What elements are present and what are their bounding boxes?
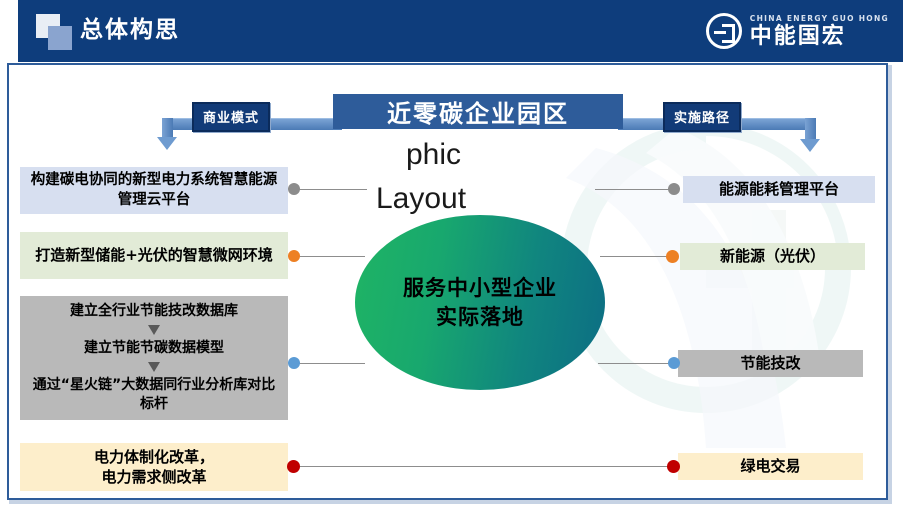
circle-g-logo-icon — [706, 13, 742, 49]
connector-line-2-right — [600, 256, 673, 257]
banner-title-text: 近零碳企业园区 — [387, 94, 569, 129]
gray-connector-dot-right[interactable] — [668, 183, 680, 195]
left-box-3-line-1: 建立全行业节能技改数据库 — [70, 302, 238, 321]
logo-text-block: CHINA ENERGY GUO HONG 中能国宏 — [750, 14, 889, 49]
right-box-2[interactable]: 新能源（光伏） — [680, 243, 865, 270]
right-box-1[interactable]: 能源能耗管理平台 — [683, 176, 875, 203]
page-title: 总体构思 — [80, 14, 180, 46]
right-box-3[interactable]: 节能技改 — [678, 350, 863, 377]
right-box-3-label: 节能技改 — [740, 353, 800, 373]
slide-header-bar: 总体构思 CHINA ENERGY GUO HONG 中能国宏 — [0, 0, 903, 62]
left-box-3-line-2: 建立节能节碳数据模型 — [84, 339, 224, 358]
placeholder-artifact-text: phic Layout — [406, 133, 466, 221]
right-box-4[interactable]: 绿电交易 — [678, 453, 863, 480]
left-box-1-label: 构建碳电协同的新型电力系统智慧能源管理云平台 — [28, 171, 280, 210]
connector-line-3-left — [295, 363, 365, 364]
left-box-4-line-1: 电力体制化改革， — [94, 447, 214, 467]
left-box-2[interactable]: 打造新型储能+光伏的智慧微网环境 — [20, 232, 288, 279]
right-box-4-label: 绿电交易 — [740, 456, 800, 476]
arrow-down-icon-2 — [148, 362, 160, 372]
company-logo: CHINA ENERGY GUO HONG 中能国宏 — [706, 11, 889, 51]
connector-line-4 — [295, 466, 680, 467]
header-square-blue-icon — [48, 26, 72, 50]
main-banner-title: 近零碳企业园区 — [333, 94, 623, 129]
red-connector-dot-left[interactable] — [287, 460, 300, 473]
right-box-2-label: 新能源（光伏） — [720, 246, 825, 266]
orange-connector-dot-left[interactable] — [288, 250, 300, 262]
header-left-white-strip — [0, 0, 18, 62]
center-line-2: 实际落地 — [403, 303, 557, 331]
slide-canvas: 总体构思 CHINA ENERGY GUO HONG 中能国宏 商业模式 实施路… — [0, 0, 903, 512]
blue-connector-dot-right[interactable] — [668, 357, 680, 369]
tag-implementation-path[interactable]: 实施路径 — [663, 102, 741, 132]
left-box-3-line-3: 通过“星火链”大数据同行业分析库对比标杆 — [26, 376, 282, 414]
red-connector-dot-right[interactable] — [667, 460, 680, 473]
logo-english-name: CHINA ENERGY GUO HONG — [750, 14, 889, 24]
left-box-3[interactable]: 建立全行业节能技改数据库 建立节能节碳数据模型 通过“星火链”大数据同行业分析库… — [20, 296, 288, 420]
ghost-line-1: phic — [406, 138, 461, 171]
logo-chinese-name: 中能国宏 — [750, 24, 889, 49]
center-line-1: 服务中小型企业 — [403, 274, 557, 302]
left-box-1[interactable]: 构建碳电协同的新型电力系统智慧能源管理云平台 — [20, 167, 288, 214]
tag-business-model[interactable]: 商业模式 — [192, 102, 270, 132]
center-ellipse-text: 服务中小型企业 实际落地 — [403, 274, 557, 331]
connector-line-1-right — [595, 189, 675, 190]
connector-line-1-left — [295, 189, 367, 190]
arrow-down-icon-1 — [148, 325, 160, 335]
left-box-4[interactable]: 电力体制化改革， 电力需求侧改革 — [20, 443, 288, 491]
connector-line-2-left — [295, 256, 365, 257]
right-box-1-label: 能源能耗管理平台 — [719, 179, 839, 199]
left-box-4-line-2: 电力需求侧改革 — [101, 467, 206, 487]
gray-connector-dot-left[interactable] — [288, 183, 300, 195]
ghost-line-2: Layout — [376, 177, 466, 221]
blue-connector-dot-left[interactable] — [288, 357, 300, 369]
orange-connector-dot-right[interactable] — [666, 250, 679, 263]
left-box-2-label: 打造新型储能+光伏的智慧微网环境 — [35, 245, 273, 265]
connector-line-3-right — [598, 363, 675, 364]
center-ellipse: 服务中小型企业 实际落地 — [355, 215, 605, 390]
